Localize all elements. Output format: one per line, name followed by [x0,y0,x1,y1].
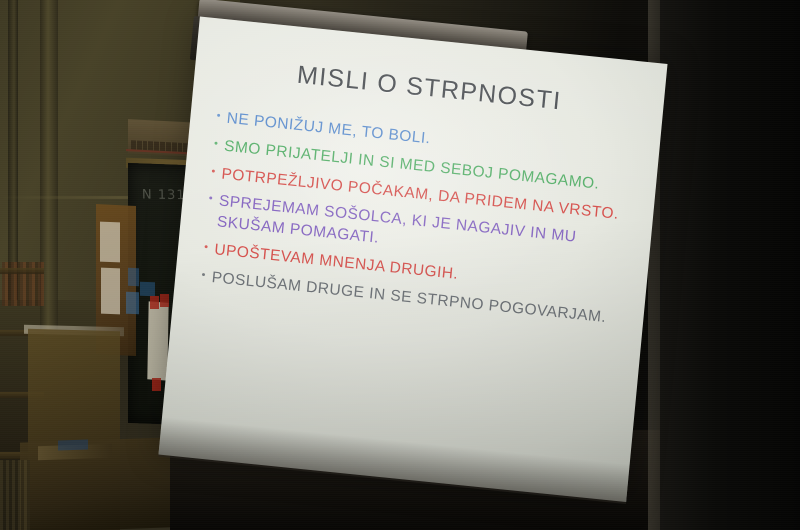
noticeboard-paper [100,222,120,263]
bullet-dot-icon: • [203,239,209,256]
alphabet-tick [131,140,136,149]
bullet-dot-icon: • [213,135,219,152]
alphabet-tick [154,141,159,150]
projector-screen-assembly: MISLI O STRPNOSTI • NE PONIŽUJ ME, TO BO… [147,0,693,530]
projection-surface: MISLI O STRPNOSTI • NE PONIŽUJ ME, TO BO… [158,17,667,503]
alphabet-tick [143,141,148,150]
slide-content: MISLI O STRPNOSTI • NE PONIŽUJ ME, TO BO… [158,17,667,503]
alphabet-tick [160,142,165,151]
noticeboard-paper [101,268,120,315]
bullet-dot-icon: • [211,163,217,180]
alphabet-tick [166,142,171,151]
bullet-dot-icon: • [208,191,214,208]
radiator [0,460,30,530]
door-frame-secondary [8,0,18,300]
alphabet-tick [148,141,153,150]
desk-blue-item [58,439,88,450]
bullet-dot-icon: • [216,108,222,125]
noticeboard-picture [126,292,139,314]
paper-clip [150,296,159,309]
noticeboard-picture [128,268,139,286]
noticeboard-picture [140,282,155,297]
alphabet-tick [137,141,142,150]
alphabet-tick [172,142,177,151]
classroom-scene: N 1315 MISLI O STRPNOSTI • NE PONIŽUJ [0,0,800,530]
shelf [0,268,44,274]
slide-bullet-list: • NE PONIŽUJ ME, TO BOLI. • SMO PRIJATEL… [200,108,633,330]
bullet-dot-icon: • [201,267,207,284]
